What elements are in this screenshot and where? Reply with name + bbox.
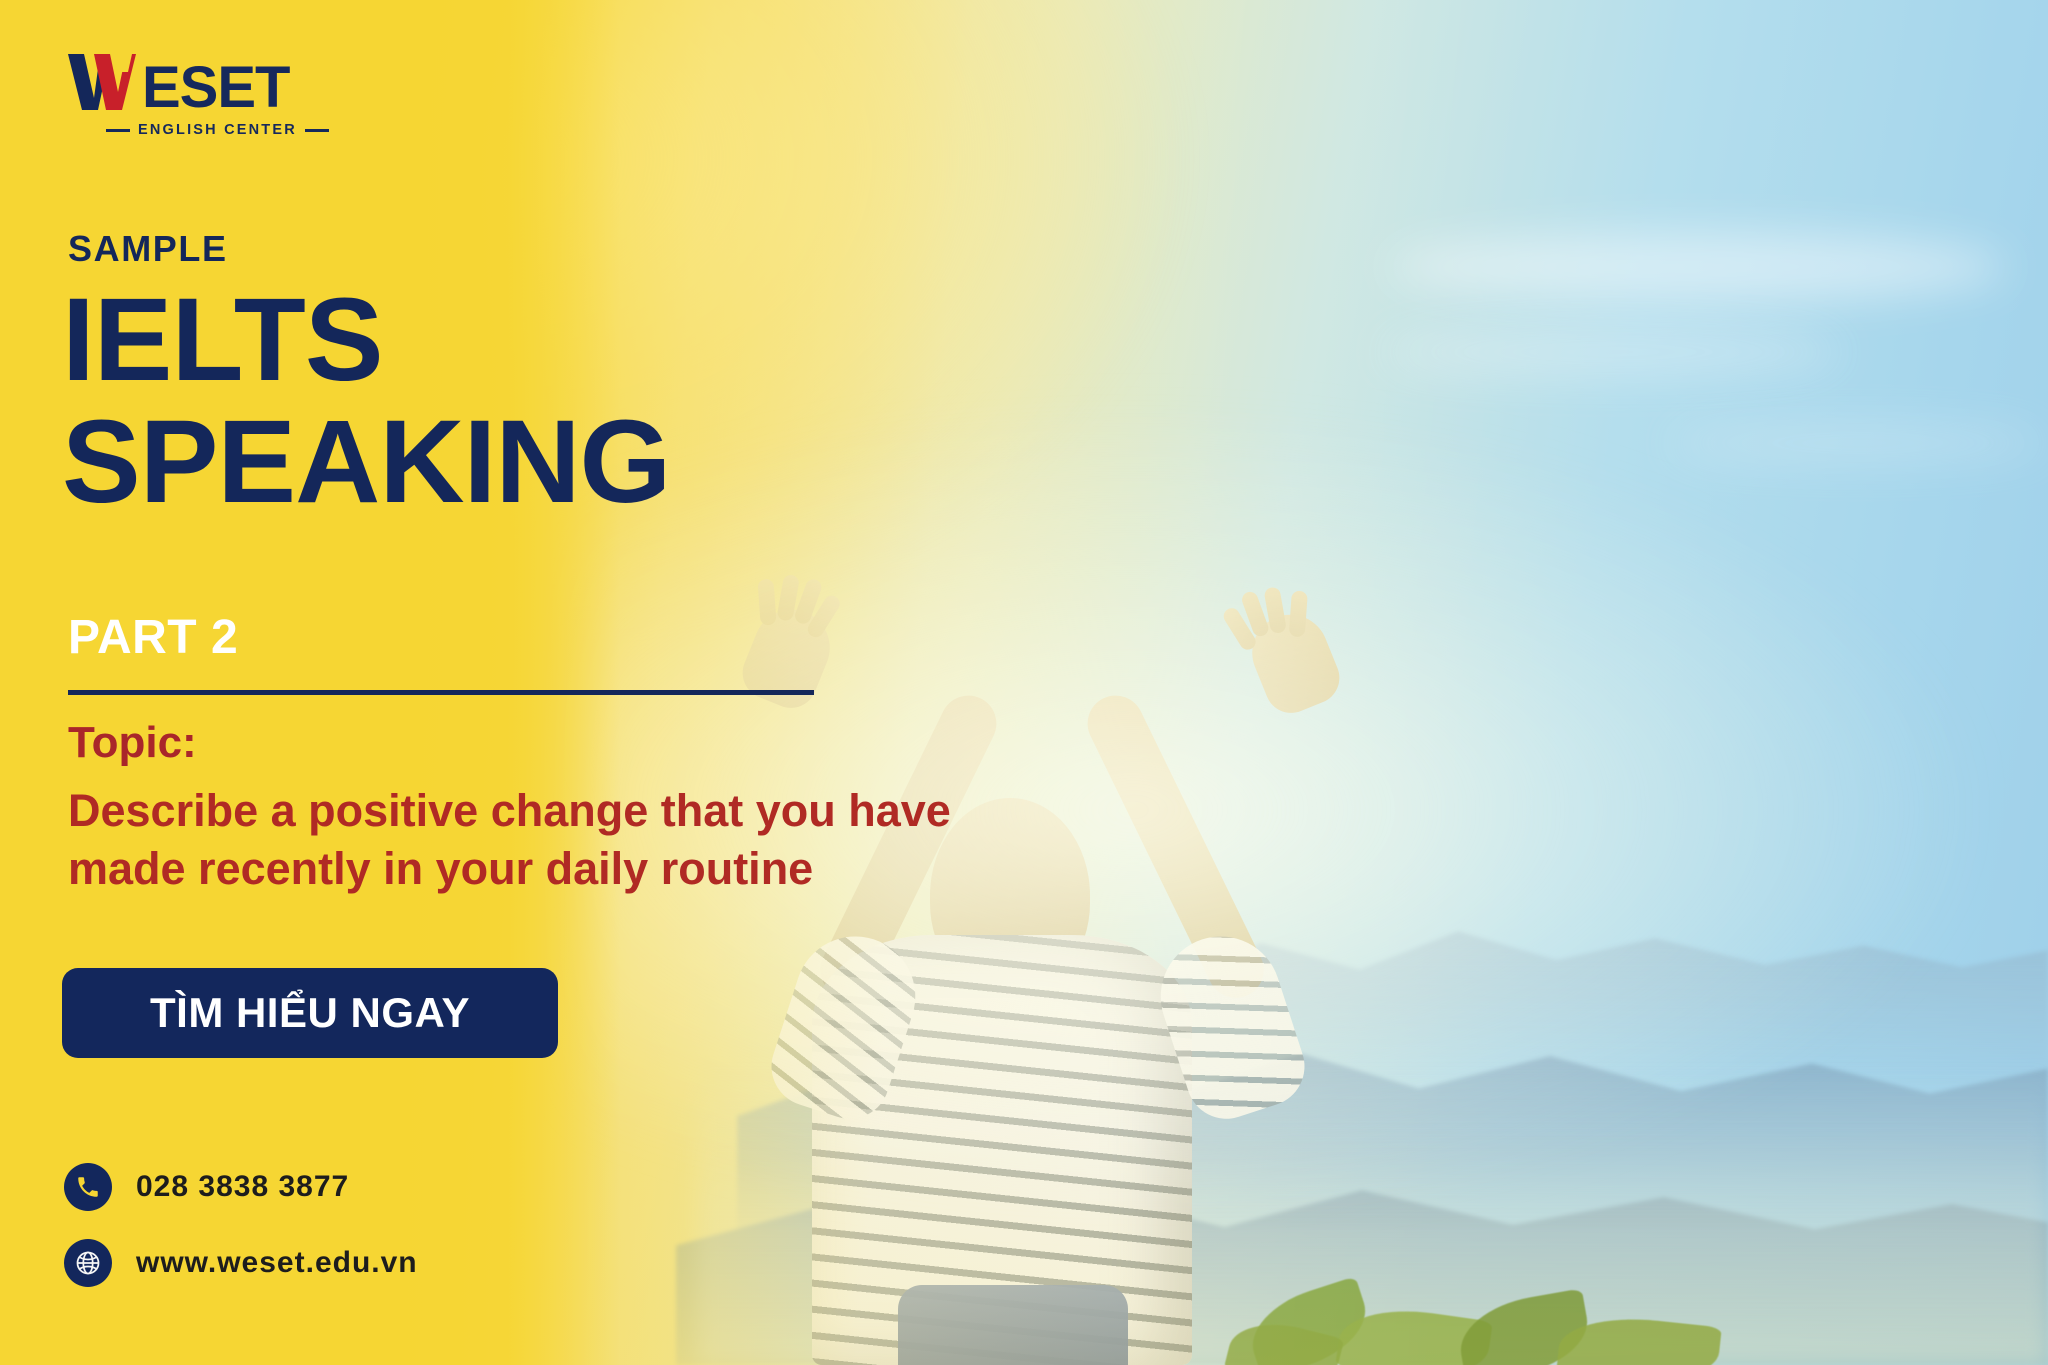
website-url: www.weset.edu.vn (136, 1246, 418, 1280)
logo-wordmark: ESET (142, 59, 290, 117)
cta-button[interactable]: TÌM HIỂU NGAY (62, 968, 558, 1058)
w-letter-logo-icon (66, 52, 140, 117)
topic-text-line-1: Describe a positive change that you have (68, 782, 951, 840)
title-line-1: IELTS (62, 274, 383, 406)
topic-text-line-2: made recently in your daily routine (68, 840, 951, 898)
topic-text: Describe a positive change that you have… (68, 782, 951, 897)
page-title: IELTS SPEAKING (62, 280, 670, 523)
contact-block: 028 3838 3877 www.weset.edu.vn (64, 1163, 418, 1315)
phone-number: 028 3838 3877 (136, 1170, 349, 1204)
title-line-2: SPEAKING (62, 402, 670, 524)
contact-row-website[interactable]: www.weset.edu.vn (64, 1239, 418, 1287)
contact-row-phone[interactable]: 028 3838 3877 (64, 1163, 418, 1211)
weset-logo[interactable]: ESET ENGLISH CENTER (66, 52, 329, 138)
logo-dash-right (305, 129, 329, 132)
poster-canvas: ESET ENGLISH CENTER SAMPLE IELTS SPEAKIN… (0, 0, 2048, 1365)
logo-tagline: ENGLISH CENTER (138, 122, 297, 138)
logo-dash-left (106, 129, 130, 132)
phone-icon (64, 1163, 112, 1211)
divider-rule (68, 690, 814, 695)
globe-icon (64, 1239, 112, 1287)
topic-label: Topic: (68, 718, 197, 768)
kicker-sample: SAMPLE (68, 228, 228, 270)
part-label: PART 2 (68, 610, 238, 665)
